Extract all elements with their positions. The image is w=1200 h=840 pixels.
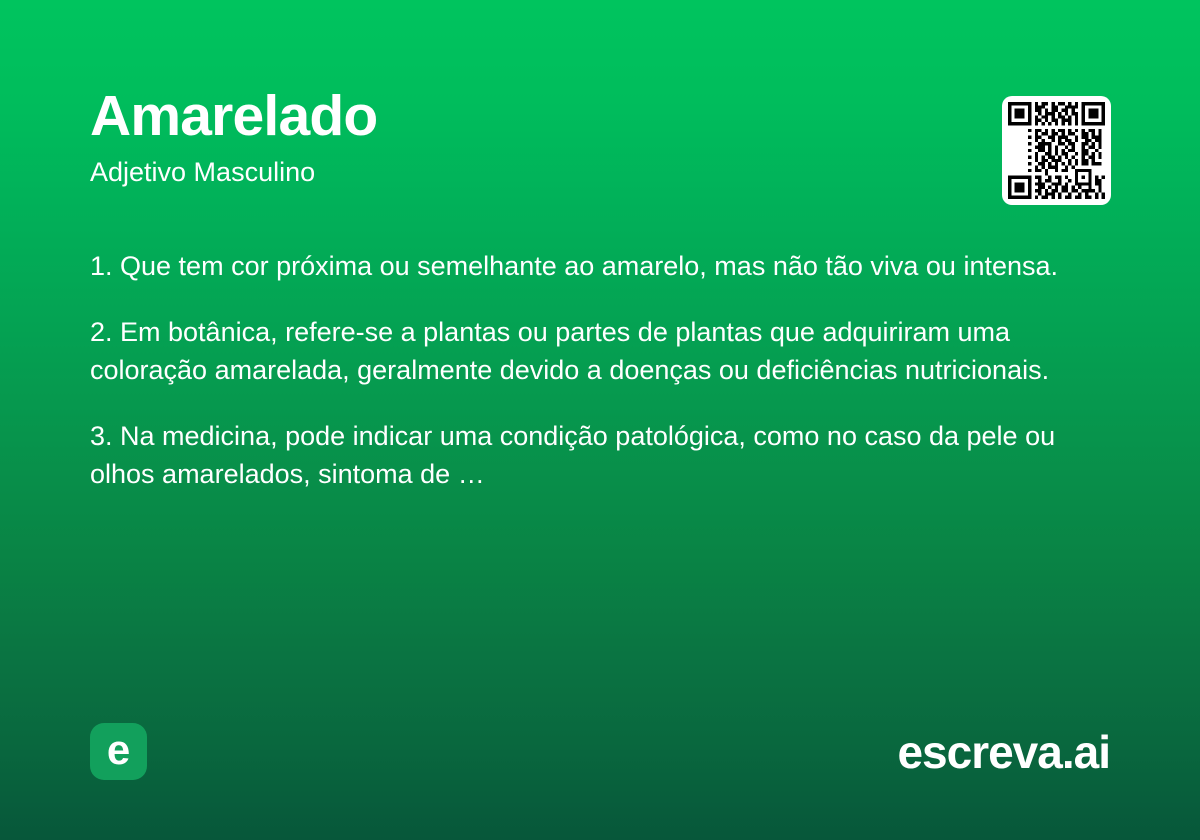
card-footer: e escreva.ai: [90, 723, 1110, 780]
logo-letter: e: [107, 729, 130, 771]
definition-item: 2. Em botânica, refere-se a plantas ou p…: [90, 313, 1100, 389]
definition-list: 1. Que tem cor próxima ou semelhante ao …: [90, 247, 1100, 493]
escreva-logo-icon: e: [90, 723, 147, 780]
definition-item: 1. Que tem cor próxima ou semelhante ao …: [90, 247, 1100, 285]
part-of-speech-label: Adjetivo Masculino: [90, 156, 1110, 188]
page-title: Amarelado: [90, 86, 1110, 148]
qr-code-card[interactable]: [1002, 96, 1111, 205]
qr-code-icon: [1008, 102, 1105, 199]
entry-header: Amarelado Adjetivo Masculino: [90, 86, 1110, 188]
dictionary-card: Amarelado Adjetivo Masculino: [0, 0, 1200, 840]
definition-item: 3. Na medicina, pode indicar uma condiçã…: [90, 417, 1100, 493]
brand-wordmark: escreva.ai: [897, 729, 1110, 775]
